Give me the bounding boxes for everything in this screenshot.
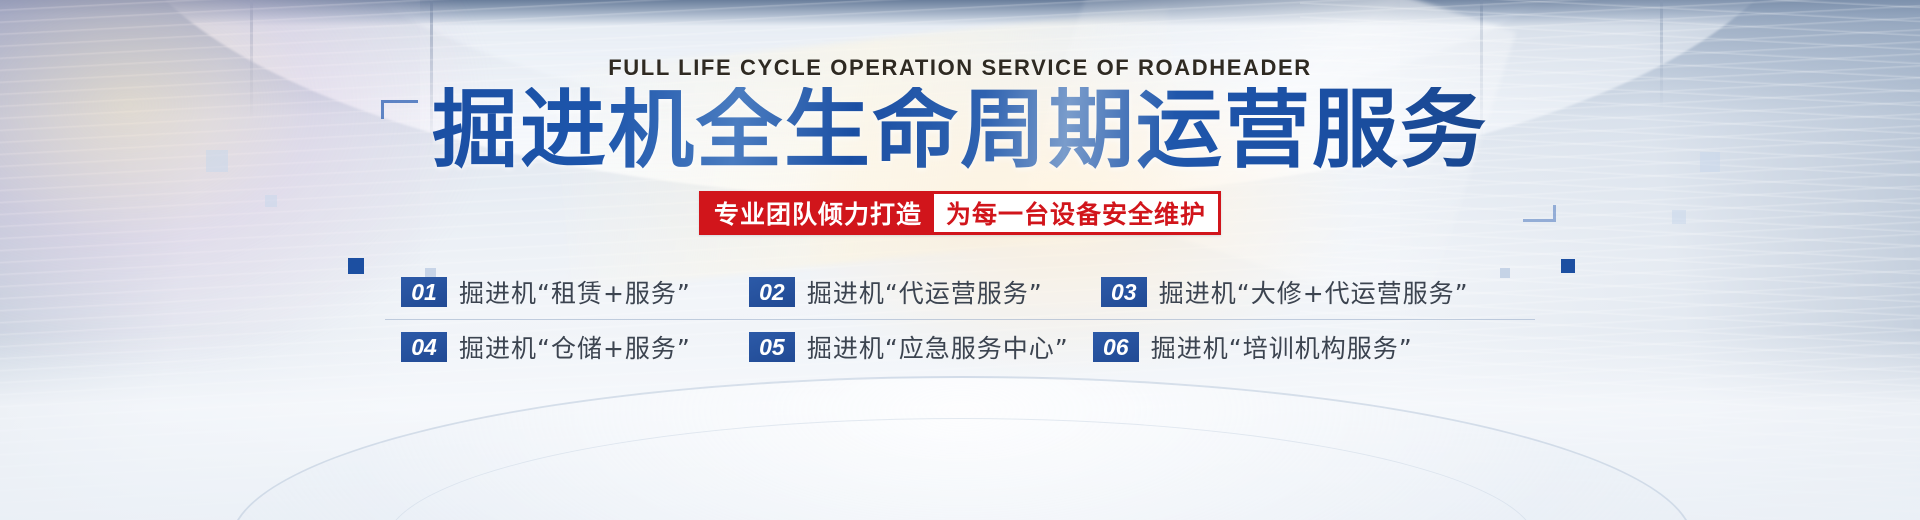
page-title: 掘进机全生命周期运营服务 (432, 87, 1488, 173)
slogan-ribbon: 专业团队倾力打造 为每一台设备安全维护 (699, 191, 1221, 235)
service-number-badge: 04 (401, 332, 447, 362)
service-item-label: 掘进机“仓储+服务” (459, 329, 691, 365)
service-item-01[interactable]: 01 掘进机“租赁+服务” (401, 274, 691, 310)
service-item-row-bottom: 04 掘进机“仓储+服务” 05 掘进机“应急服务中心” 06 掘进机“培训机构… (385, 320, 1535, 374)
service-number-badge: 01 (401, 277, 447, 307)
hero-banner: FULL LIFE CYCLE OPERATION SERVICE OF ROA… (0, 0, 1920, 520)
service-item-03[interactable]: 03 掘进机“大修+代运营服务” (1101, 274, 1469, 310)
service-item-04[interactable]: 04 掘进机“仓储+服务” (401, 329, 691, 365)
service-number-badge: 03 (1101, 277, 1147, 307)
service-item-label: 掘进机“应急服务中心” (807, 329, 1069, 365)
slogan-secondary: 为每一台设备安全维护 (934, 194, 1218, 232)
service-item-06[interactable]: 06 掘进机“培训机构服务” (1093, 329, 1413, 365)
service-item-label: 掘进机“培训机构服务” (1151, 329, 1413, 365)
service-item-label: 掘进机“大修+代运营服务” (1159, 274, 1469, 310)
banner-eyebrow: FULL LIFE CYCLE OPERATION SERVICE OF ROA… (608, 55, 1311, 81)
slogan-primary: 专业团队倾力打造 (702, 194, 934, 232)
service-number-badge: 02 (749, 277, 795, 307)
service-number-badge: 06 (1093, 332, 1139, 362)
service-item-label: 掘进机“租赁+服务” (459, 274, 691, 310)
service-number-badge: 05 (749, 332, 795, 362)
service-item-02[interactable]: 02 掘进机“代运营服务” (749, 274, 1043, 310)
service-item-05[interactable]: 05 掘进机“应急服务中心” (749, 329, 1069, 365)
service-item-label: 掘进机“代运营服务” (807, 274, 1043, 310)
banner-content: FULL LIFE CYCLE OPERATION SERVICE OF ROA… (0, 0, 1920, 520)
service-item-row-top: 01 掘进机“租赁+服务” 02 掘进机“代运营服务” 03 掘进机“大修+代运… (385, 265, 1535, 320)
service-item-list: 01 掘进机“租赁+服务” 02 掘进机“代运营服务” 03 掘进机“大修+代运… (385, 265, 1535, 374)
